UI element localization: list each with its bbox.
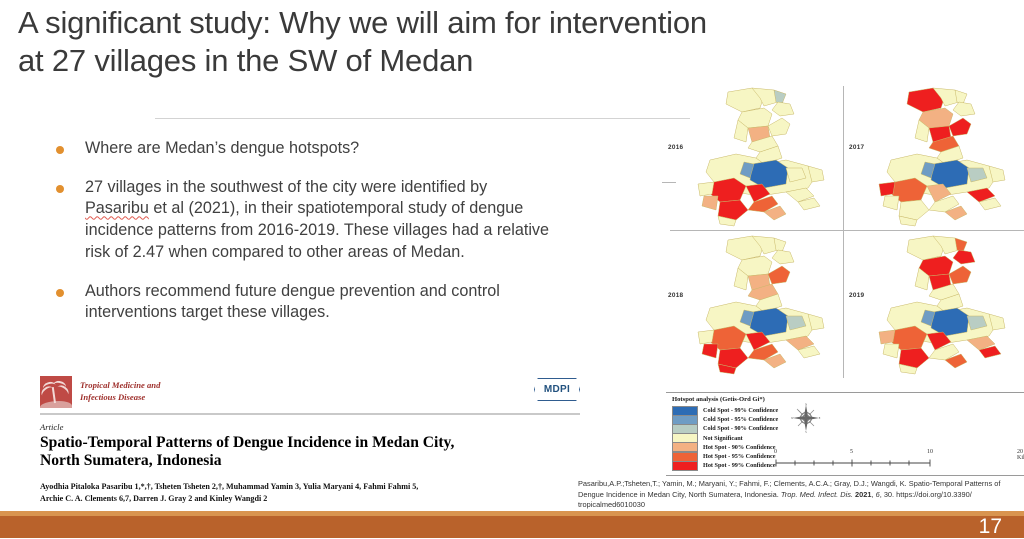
map-graphic bbox=[690, 232, 840, 378]
svg-text:E: E bbox=[819, 417, 821, 420]
citation-journal: Trop. Med. Infect. Dis. bbox=[781, 490, 853, 499]
map-figure: 2016 bbox=[662, 82, 1024, 382]
scale-label: 20 Kilometers bbox=[1017, 449, 1024, 461]
journal-name: Tropical Medicine and Infectious Disease bbox=[80, 380, 160, 404]
citation-text: Pasaribu,A.P.;Tsheten,T.; Yamin, M.; Mar… bbox=[578, 479, 1014, 511]
mdpi-label: MDPI bbox=[534, 378, 580, 401]
map-graphic bbox=[871, 232, 1021, 378]
map-graphic bbox=[690, 84, 840, 230]
map-panel-2017: 2017 bbox=[843, 82, 1024, 230]
mdpi-logo: MDPI bbox=[534, 378, 580, 401]
legend-item-label: Hot Spot - 99% Confidence bbox=[703, 462, 776, 469]
legend-color-swatch bbox=[672, 461, 698, 471]
paper-title-line-1: Spatio-Temporal Patterns of Dengue Incid… bbox=[40, 434, 580, 452]
bullet-text: 27 villages in the southwest of the city… bbox=[85, 177, 555, 264]
legend-item-label: Cold Spot - 99% Confidence bbox=[703, 407, 778, 414]
paper-authors: Ayodhia Pitaloka Pasaribu 1,*,†, Tsheten… bbox=[40, 481, 580, 504]
author-line-2: Archie C. A. Clements 6,7, Darren J. Gra… bbox=[40, 493, 580, 505]
paper-header: Tropical Medicine and Infectious Disease… bbox=[40, 376, 580, 408]
bullet-dot-icon bbox=[56, 146, 64, 154]
svg-text:S: S bbox=[805, 431, 807, 433]
scale-bar-labels: 051020 Kilometers bbox=[774, 449, 974, 458]
paper-thumbnail: Tropical Medicine and Infectious Disease… bbox=[40, 376, 580, 504]
list-item: Where are Medan’s dengue hotspots? bbox=[56, 138, 616, 160]
title-line-2: at 27 villages in the SW of Medan bbox=[18, 42, 978, 80]
scale-label: 5 bbox=[850, 449, 853, 455]
article-kind-label: Article bbox=[40, 422, 580, 432]
bullet-dot-icon bbox=[56, 289, 64, 297]
panel-grid: 2016 bbox=[662, 82, 1024, 382]
misspelled-word: Pasaribu bbox=[85, 199, 149, 217]
paper-title-line-2: North Sumatera, Indonesia bbox=[40, 452, 580, 470]
map-panel-2016: 2016 bbox=[662, 82, 843, 230]
legend-item: Hot Spot - 99% Confidence bbox=[672, 461, 778, 470]
bullet-text: Where are Medan’s dengue hotspots? bbox=[85, 138, 359, 160]
map-legend: Hotspot analysis (Getis-Ord Gi*) Cold Sp… bbox=[666, 392, 1024, 476]
citation-year: 2021 bbox=[855, 490, 871, 499]
scale-bar: 051020 Kilometers bbox=[774, 449, 974, 467]
panel-year-label: 2017 bbox=[849, 144, 864, 151]
page-title: A significant study: Why we will aim for… bbox=[18, 4, 978, 80]
bullet-list: Where are Medan’s dengue hotspots? 27 vi… bbox=[56, 138, 616, 341]
journal-logo: Tropical Medicine and Infectious Disease bbox=[40, 376, 160, 408]
list-item: 27 villages in the southwest of the city… bbox=[56, 177, 616, 264]
scale-bar-line bbox=[774, 458, 974, 467]
paper-title: Spatio-Temporal Patterns of Dengue Incid… bbox=[40, 434, 580, 471]
legend-item-label: Hot Spot - 90% Confidence bbox=[703, 444, 776, 451]
list-item: Authors recommend future dengue preventi… bbox=[56, 281, 616, 324]
footer-bar: 17 bbox=[0, 516, 1024, 538]
author-line-1: Ayodhia Pitaloka Pasaribu 1,*,†, Tsheten… bbox=[40, 481, 580, 493]
legend-title: Hotspot analysis (Getis-Ord Gi*) bbox=[672, 396, 765, 403]
panel-year-label: 2019 bbox=[849, 292, 864, 299]
map-panel-2019: 2019 bbox=[843, 230, 1024, 378]
slide: A significant study: Why we will aim for… bbox=[0, 0, 1024, 538]
bullet-dot-icon bbox=[56, 185, 64, 193]
title-line-1: A significant study: Why we will aim for… bbox=[18, 4, 978, 42]
journal-name-line-1: Tropical Medicine and bbox=[80, 380, 160, 392]
svg-text:N: N bbox=[805, 404, 807, 407]
svg-text:W: W bbox=[791, 417, 794, 420]
map-graphic bbox=[871, 84, 1021, 230]
legend-item-label: Not Significant bbox=[703, 435, 743, 442]
scale-label: 10 bbox=[927, 449, 933, 455]
legend-item-list: Cold Spot - 99% ConfidenceCold Spot - 95… bbox=[672, 406, 778, 470]
compass-rose-icon: N S E W bbox=[791, 403, 821, 433]
paper-divider bbox=[40, 413, 580, 415]
palm-tree-icon bbox=[40, 376, 72, 408]
map-panel-2018: 2018 bbox=[662, 230, 843, 378]
legend-item-label: Cold Spot - 95% Confidence bbox=[703, 416, 778, 423]
panel-year-label: 2018 bbox=[668, 292, 683, 299]
legend-item-label: Cold Spot - 90% Confidence bbox=[703, 425, 778, 432]
slide-number: 17 bbox=[979, 515, 1002, 539]
legend-item-label: Hot Spot - 95% Confidence bbox=[703, 453, 776, 460]
divider-rule bbox=[155, 118, 690, 119]
panel-year-label: 2016 bbox=[668, 144, 683, 151]
scale-label: 0 bbox=[774, 449, 777, 455]
bullet-text: Authors recommend future dengue preventi… bbox=[85, 281, 555, 324]
journal-name-line-2: Infectious Disease bbox=[80, 392, 160, 404]
